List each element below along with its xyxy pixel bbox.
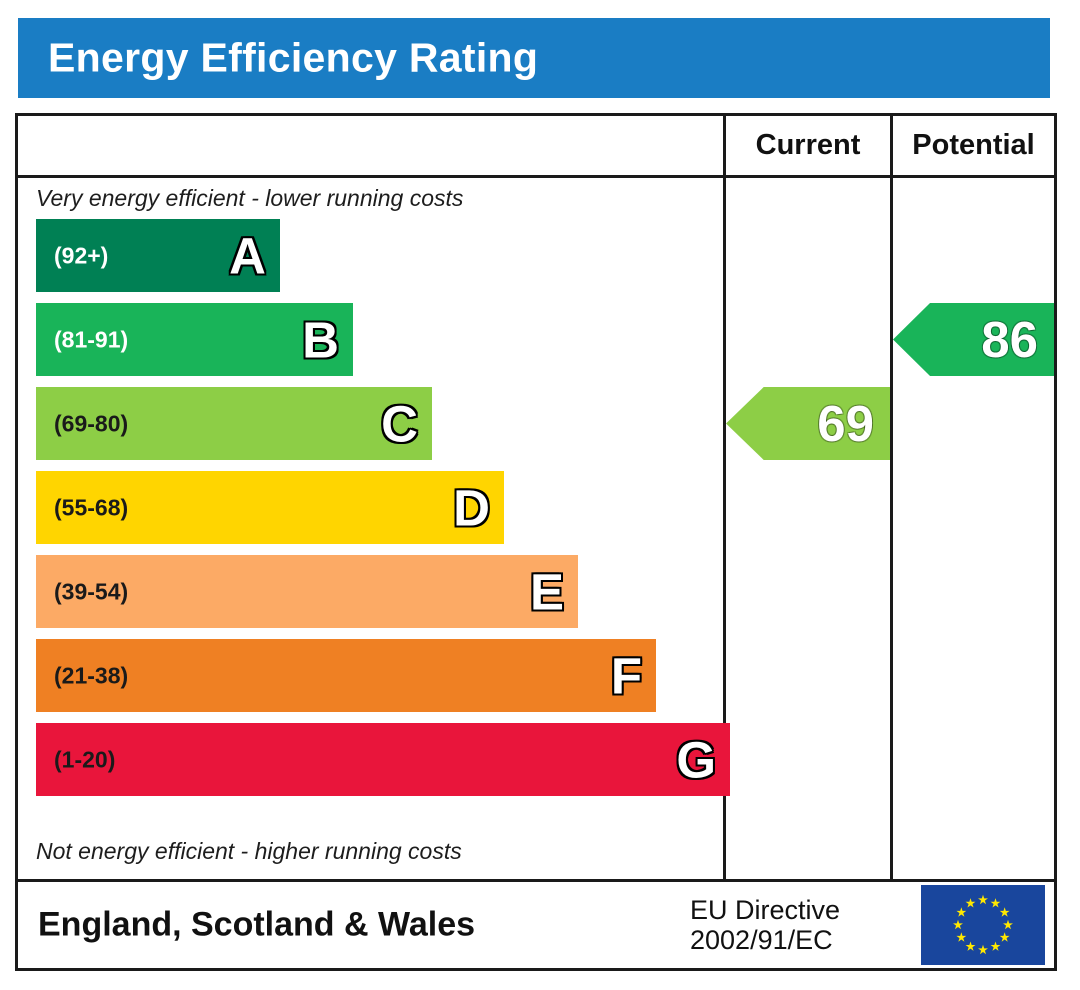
chart-body: Very energy efficient - lower running co…: [18, 178, 1054, 882]
column-header-current: Current: [723, 116, 890, 175]
eu-flag-icon: [921, 885, 1045, 965]
footer-directive-line2: 2002/91/EC: [690, 925, 840, 955]
chart-table-frame: Current Potential Very energy efficient …: [15, 113, 1057, 971]
band-range-d: (55-68): [54, 494, 128, 521]
band-letter-d: D: [453, 482, 490, 533]
epc-energy-efficiency-chart: Energy Efficiency Rating Current Potenti…: [0, 0, 1080, 990]
band-letter-b: B: [302, 314, 339, 365]
rating-band-f: (21-38)F: [36, 639, 656, 712]
band-letter-c: C: [381, 398, 418, 449]
rating-band-b: (81-91)B: [36, 303, 353, 376]
footer-region-label: England, Scotland & Wales: [38, 906, 475, 945]
band-range-c: (69-80): [54, 410, 128, 437]
column-header-blank: [18, 116, 723, 175]
column-header-potential: Potential: [890, 116, 1054, 175]
footer-directive-line1: EU Directive: [690, 895, 840, 925]
band-letter-a: A: [229, 230, 266, 281]
band-range-f: (21-38): [54, 662, 128, 689]
band-range-b: (81-91): [54, 326, 128, 353]
rating-arrow-current: 69: [726, 387, 890, 460]
page-title: Energy Efficiency Rating: [48, 35, 538, 82]
band-letter-g: G: [676, 734, 716, 785]
band-letter-f: F: [611, 650, 642, 701]
rating-band-e: (39-54)E: [36, 555, 578, 628]
band-range-g: (1-20): [54, 746, 115, 773]
column-divider-potential: [890, 178, 893, 879]
rating-value-potential: 86: [981, 314, 1054, 365]
band-range-a: (92+): [54, 242, 108, 269]
band-range-e: (39-54): [54, 578, 128, 605]
caption-inefficient: Not energy efficient - higher running co…: [36, 838, 462, 865]
chart-footer: England, Scotland & Wales EU Directive 2…: [18, 882, 1054, 968]
footer-directive-label: EU Directive 2002/91/EC: [690, 895, 840, 955]
caption-efficient: Very energy efficient - lower running co…: [36, 185, 463, 212]
rating-arrow-potential: 86: [893, 303, 1054, 376]
table-header-row: Current Potential: [18, 116, 1054, 178]
rating-band-d: (55-68)D: [36, 471, 504, 544]
rating-band-g: (1-20)G: [36, 723, 730, 796]
chart-title-bar: Energy Efficiency Rating: [18, 18, 1050, 98]
rating-value-current: 69: [817, 398, 890, 449]
band-letter-e: E: [530, 566, 564, 617]
rating-band-c: (69-80)C: [36, 387, 432, 460]
rating-band-a: (92+)A: [36, 219, 280, 292]
